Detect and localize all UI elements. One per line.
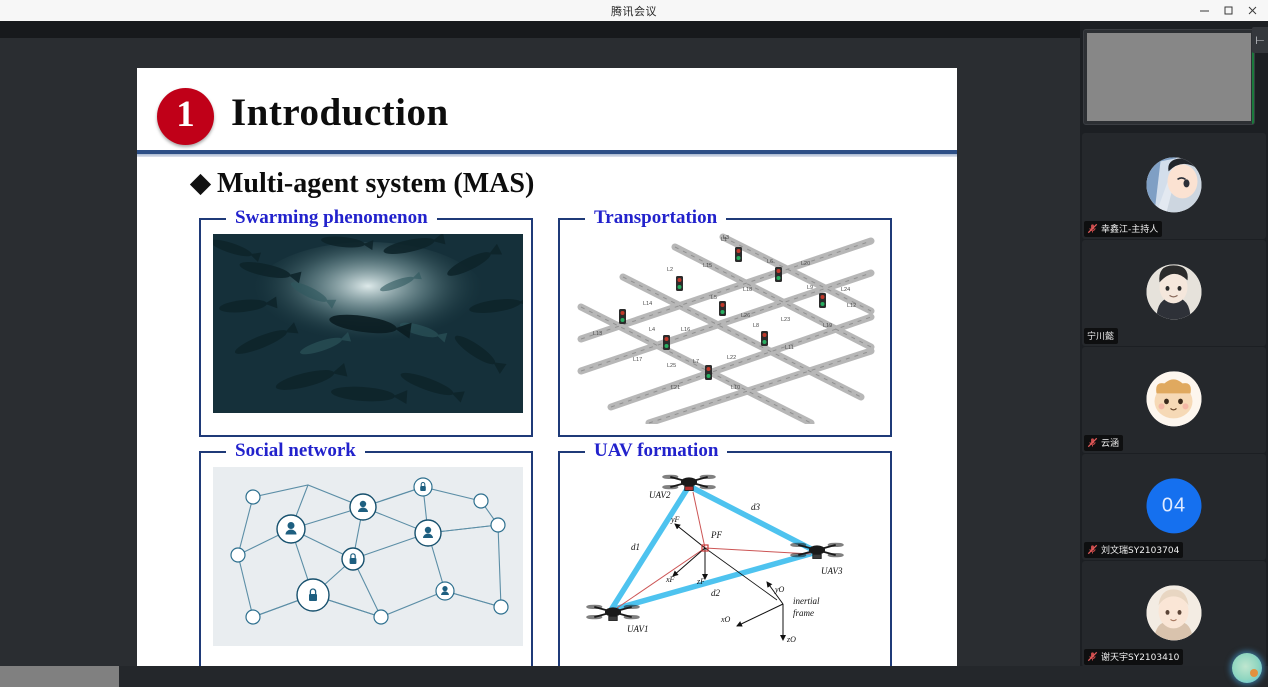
social-network-diagram <box>213 467 523 646</box>
road-link-label: L20 <box>801 261 810 267</box>
participant-tile[interactable]: 宁川懿 <box>1082 240 1266 346</box>
rail-collapse-handle[interactable]: ⊢ <box>1252 27 1268 53</box>
participant-name-chip: 宁川懿 <box>1084 328 1118 344</box>
participant-tile[interactable]: 04 刘文瑞SY2103704 <box>1082 454 1266 560</box>
road-link-label: L13 <box>593 331 602 337</box>
yo-label: yO <box>774 585 785 594</box>
mic-muted-icon <box>1087 223 1098 234</box>
meeting-stage: 1 Introduction Multi-agent system (MAS) … <box>0 21 1268 666</box>
participant-tile[interactable]: 幸鑫江-主持人 <box>1082 133 1266 239</box>
d1-label: d1 <box>631 542 640 552</box>
road-link-label: L9 <box>807 285 813 291</box>
screen-share-thumbnail[interactable] <box>1083 29 1255 125</box>
panel-label-transportation: Transportation <box>585 207 726 229</box>
maximize-icon[interactable] <box>1216 0 1240 21</box>
avatar <box>1147 371 1202 426</box>
panel-social-network: Social network <box>199 451 533 670</box>
diamond-bullet-icon <box>190 173 211 194</box>
road-link-label: L4 <box>649 327 655 333</box>
road-link-label: L25 <box>667 363 676 369</box>
window-controls <box>1192 0 1264 21</box>
close-icon[interactable] <box>1240 0 1264 21</box>
road-link-label: L14 <box>643 301 652 307</box>
screen-share-preview <box>1087 33 1251 121</box>
road-link-label: L22 <box>727 355 736 361</box>
window-title: 腾讯会议 <box>611 3 657 19</box>
xf-label: xF <box>665 575 675 584</box>
section-number: 1 <box>176 96 195 133</box>
slide-header: 1 Introduction <box>137 68 957 148</box>
inertial-frame-label-1: inertial <box>793 596 820 606</box>
avatar-photo-icon <box>1147 264 1202 319</box>
section-number-badge: 1 <box>157 88 214 145</box>
taskbar <box>0 666 1268 687</box>
zo-label: zO <box>786 635 796 644</box>
road-link-label: L18 <box>743 287 752 293</box>
avatar-photo-icon <box>1147 585 1202 640</box>
road-link-label: L7 <box>693 359 699 365</box>
mic-muted-icon <box>1087 651 1098 662</box>
uav1-label: UAV1 <box>627 624 649 634</box>
participant-rail: ⊢ 幸鑫江-主持 <box>1080 21 1268 666</box>
road-link-label: L5 <box>711 295 717 301</box>
road-link-label: L6 <box>767 259 773 265</box>
meeting-window: 腾讯会议 1 Introduction <box>0 0 1268 687</box>
d3-label: d3 <box>751 502 761 512</box>
participant-name: 谢天宇SY2103410 <box>1101 650 1179 663</box>
stage-top-strip <box>0 21 1268 38</box>
xo-label: xO <box>720 615 731 624</box>
avatar: 04 <box>1147 478 1202 533</box>
road-network-art: L1L2L3L4L5L6L7L8L9L10L11L12L13L14L15L16L… <box>571 231 879 424</box>
mic-muted-icon <box>1087 544 1098 555</box>
taskbar-preview-thumb[interactable] <box>0 666 119 687</box>
mas-heading: Multi-agent system (MAS) <box>193 168 534 200</box>
uav2-label: UAV2 <box>649 490 671 500</box>
uav-formation-art: UAV2UAV3UAV1d1d2d3PFxFyFzFxOyOzOinertial… <box>571 464 879 657</box>
avatar <box>1147 264 1202 319</box>
d2-label: d2 <box>711 588 721 598</box>
minimize-icon[interactable] <box>1192 0 1216 21</box>
road-link-label: L11 <box>785 345 794 351</box>
road-link-label: L8 <box>753 323 759 329</box>
participant-name-chip: 谢天宇SY2103410 <box>1084 649 1183 665</box>
mic-muted-icon <box>1087 437 1098 448</box>
road-link-label: L17 <box>633 357 642 363</box>
panel-label-uav: UAV formation <box>585 440 727 462</box>
road-link-label: L10 <box>731 385 740 391</box>
panel-uav-formation: UAV formation <box>558 451 892 670</box>
header-divider <box>137 150 957 157</box>
inertial-frame-label-2: frame <box>793 608 814 618</box>
page-title: Introduction <box>231 90 449 135</box>
participant-name: 刘文瑞SY2103704 <box>1101 543 1179 556</box>
panel-swarming-phenomenon: Swarming phenomenon <box>199 218 533 437</box>
window-title-bar: 腾讯会议 <box>0 0 1268 21</box>
avatar-photo-icon <box>1147 371 1202 426</box>
participant-name-chip: 幸鑫江-主持人 <box>1084 221 1162 237</box>
fish-school-photo <box>213 234 523 413</box>
road-network-diagram: L1L2L3L4L5L6L7L8L9L10L11L12L13L14L15L16L… <box>571 231 879 424</box>
road-link-label: L3 <box>723 235 729 241</box>
panel-label-social: Social network <box>226 440 365 462</box>
road-link-label: L23 <box>781 317 790 323</box>
road-link-label: L2 <box>667 267 673 273</box>
shared-slide: 1 Introduction Multi-agent system (MAS) … <box>137 68 957 680</box>
avatar <box>1147 157 1202 212</box>
participant-tile[interactable]: 谢天宇SY2103410 <box>1082 561 1266 667</box>
participant-name: 宁川懿 <box>1087 329 1114 342</box>
participant-name-chip: 云涵 <box>1084 435 1123 451</box>
mas-heading-text: Multi-agent system (MAS) <box>217 168 534 200</box>
yf-label: yF <box>670 515 680 524</box>
road-link-label: L15 <box>703 263 712 269</box>
road-link-label: L21 <box>671 385 680 391</box>
fish-school-art <box>213 234 523 413</box>
participant-name: 幸鑫江-主持人 <box>1101 222 1158 235</box>
road-link-label: L26 <box>741 313 750 319</box>
participant-name: 云涵 <box>1101 436 1119 449</box>
avatar <box>1147 585 1202 640</box>
participant-name-chip: 刘文瑞SY2103704 <box>1084 542 1183 558</box>
road-link-label: L12 <box>847 303 856 309</box>
pf-label: PF <box>710 530 722 540</box>
road-link-label: L16 <box>681 327 690 333</box>
road-link-label: L19 <box>823 323 832 329</box>
avatar-initials: 04 <box>1162 494 1186 517</box>
uav3-label: UAV3 <box>821 566 843 576</box>
panel-transportation: Transportation <box>558 218 892 437</box>
participant-tile[interactable]: 云涵 <box>1082 347 1266 453</box>
avatar-photo-icon <box>1147 157 1202 212</box>
uav-formation-diagram: UAV2UAV3UAV1d1d2d3PFxFyFzFxOyOzOinertial… <box>571 464 879 657</box>
cursor-dot-icon <box>1250 669 1258 677</box>
social-network-art <box>213 467 523 646</box>
zf-label: zF <box>696 577 705 586</box>
cursor-highlight-bubble <box>1232 653 1262 683</box>
panel-label-swarm: Swarming phenomenon <box>226 207 437 229</box>
road-link-label: L24 <box>841 287 850 293</box>
